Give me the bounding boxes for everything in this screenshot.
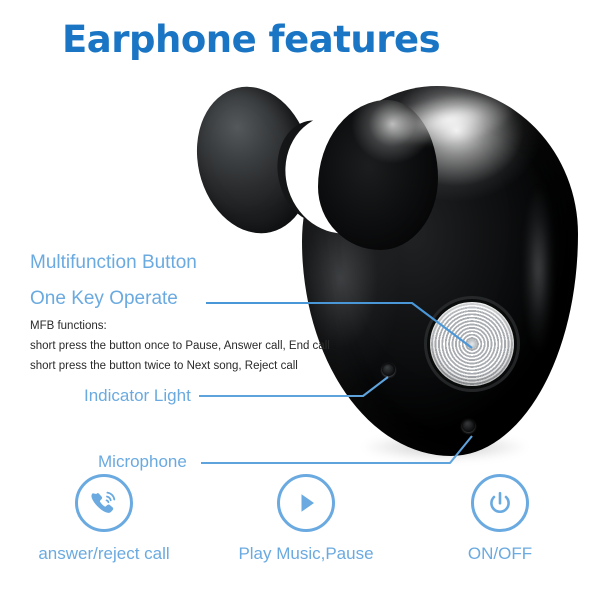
callout-label-microphone: Microphone xyxy=(98,452,187,472)
play-icon xyxy=(291,488,321,518)
product-image xyxy=(190,78,590,478)
feature-answer-reject-call: answer/reject call xyxy=(4,474,204,564)
power-icon-circle xyxy=(471,474,529,532)
feature-caption-play-music-pause: Play Music,Pause xyxy=(206,544,406,564)
page-title: Earphone features xyxy=(62,18,440,61)
indicator-light-dot xyxy=(382,363,395,376)
feature-caption-answer-reject-call: answer/reject call xyxy=(4,544,204,564)
mfb-notes-heading: MFB functions: xyxy=(30,316,330,336)
feature-on-off: ON/OFF xyxy=(400,474,600,564)
feature-play-music-pause: Play Music,Pause xyxy=(206,474,406,564)
microphone-hole xyxy=(462,419,475,432)
callout-label-indicator-light: Indicator Light xyxy=(84,386,191,406)
infographic-canvas: Earphone features Multifunction Button O… xyxy=(0,0,612,612)
mfb-functions-notes: MFB functions: short press the button on… xyxy=(30,316,330,376)
callout-label-multifunction-button: Multifunction Button xyxy=(30,252,197,274)
mfb-notes-line-1: short press the button once to Pause, An… xyxy=(30,336,330,356)
callout-label-one-key-operate: One Key Operate xyxy=(30,288,178,310)
phone-call-icon-circle xyxy=(75,474,133,532)
power-icon xyxy=(485,488,515,518)
multifunction-button-center xyxy=(467,339,477,349)
multifunction-button xyxy=(430,302,514,386)
mfb-notes-line-2: short press the button twice to Next son… xyxy=(30,356,330,376)
feature-icon-row: answer/reject call Play Music,Pause ON/O… xyxy=(0,474,612,594)
phone-call-icon xyxy=(87,486,121,520)
play-icon-circle xyxy=(277,474,335,532)
feature-caption-on-off: ON/OFF xyxy=(400,544,600,564)
